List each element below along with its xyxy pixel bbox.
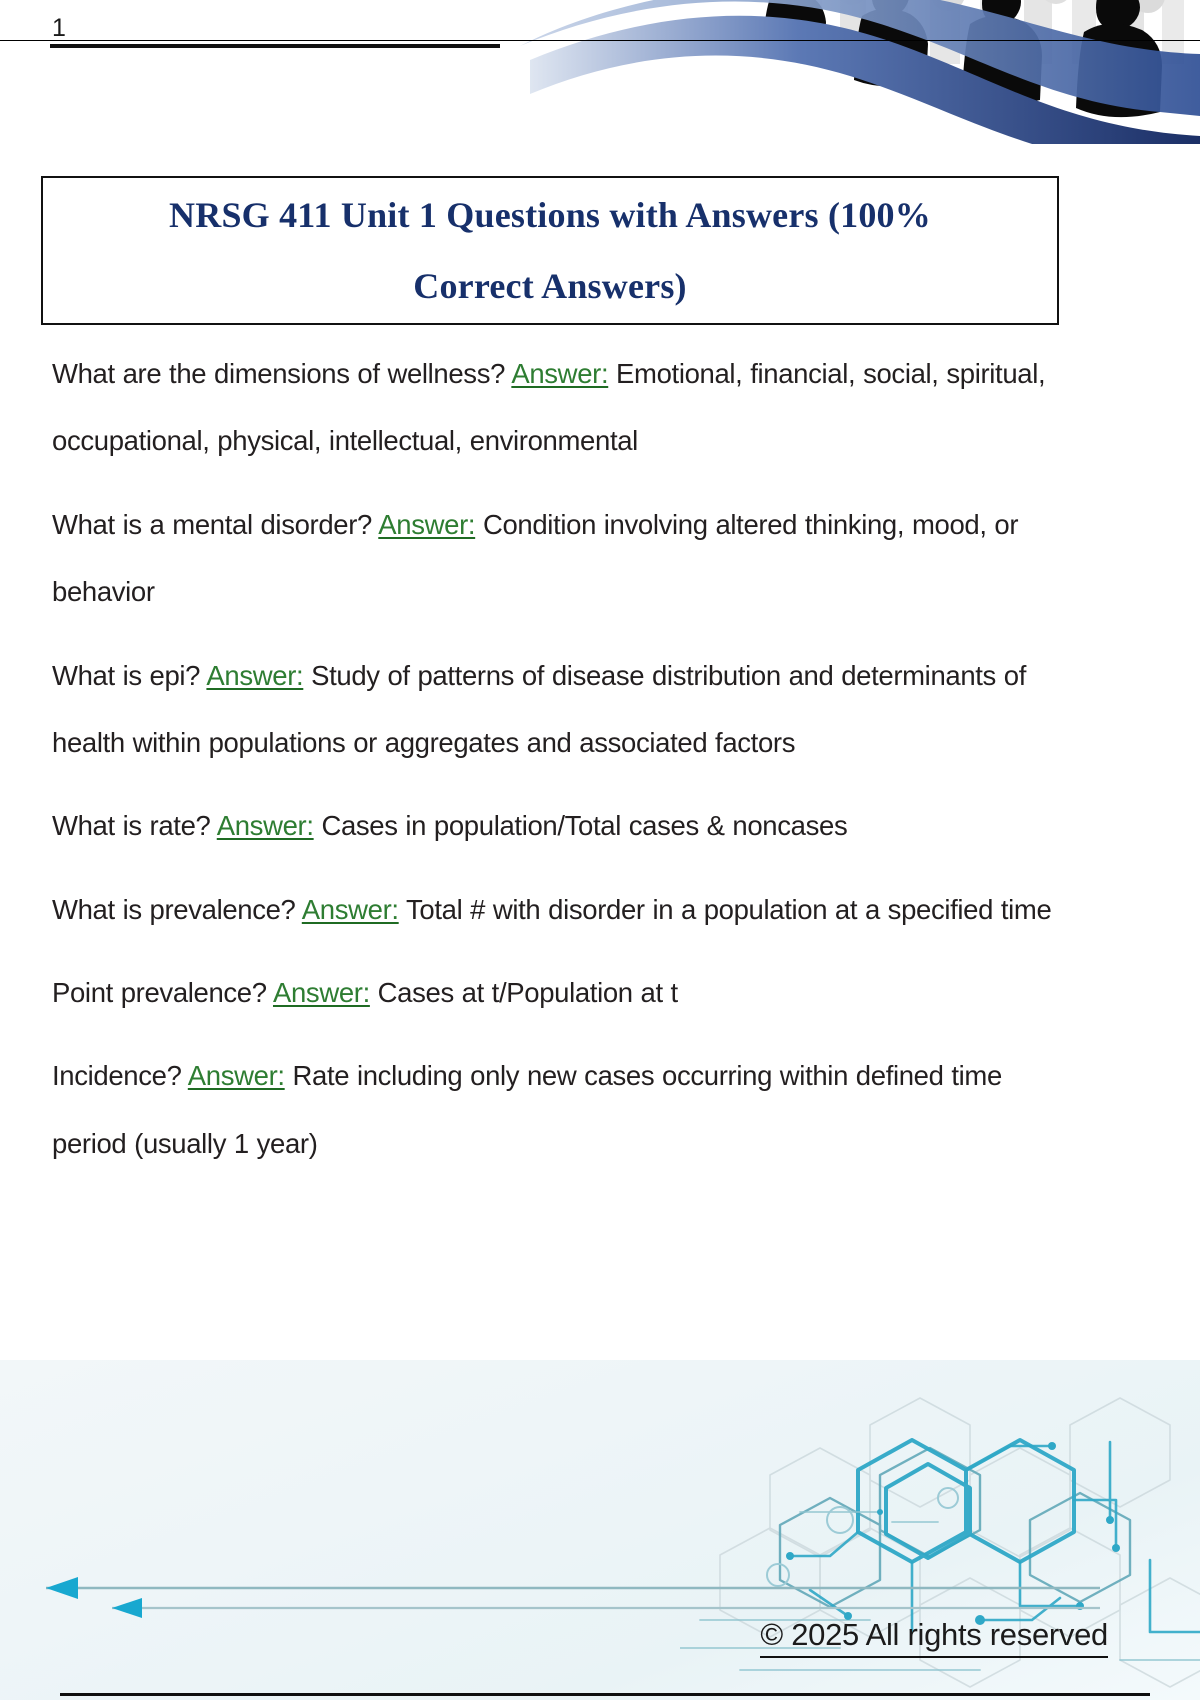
- qa-item: What is rate? Answer: Cases in populatio…: [52, 792, 1072, 859]
- question-text: What is prevalence?: [52, 894, 296, 925]
- document-page: 1 NRSG 411 Unit 1 Questions with Answers…: [0, 0, 1200, 1700]
- question-text: Point prevalence?: [52, 977, 267, 1008]
- qa-item: What is a mental disorder? Answer: Condi…: [52, 491, 1072, 626]
- qa-list: What are the dimensions of wellness? Ans…: [52, 340, 1072, 1193]
- answer-label: Answer:: [273, 977, 370, 1008]
- left-arrow-icon: [46, 1577, 78, 1599]
- qa-item: Point prevalence? Answer: Cases at t/Pop…: [52, 959, 1072, 1026]
- blue-wave-people-silhouette-banner: [500, 0, 1200, 144]
- left-arrow-icon: [112, 1598, 142, 1618]
- footer-rule: [60, 1693, 1150, 1696]
- page-title: NRSG 411 Unit 1 Questions with Answers (…: [114, 180, 986, 320]
- header-rule-thick: [50, 44, 500, 48]
- page-number: 1: [52, 16, 66, 41]
- answer-label: Answer:: [188, 1060, 285, 1091]
- page-footer: © 2025 All rights reserved: [0, 1360, 1200, 1700]
- answer-label: Answer:: [217, 810, 314, 841]
- qa-item: What is prevalence? Answer: Total # with…: [52, 876, 1072, 943]
- page-header: 1: [0, 0, 1200, 150]
- answer-label: Answer:: [206, 660, 303, 691]
- answer-text: Cases at t/Population at t: [378, 977, 678, 1008]
- title-box: NRSG 411 Unit 1 Questions with Answers (…: [41, 176, 1059, 325]
- qa-item: What are the dimensions of wellness? Ans…: [52, 340, 1072, 475]
- question-text: What are the dimensions of wellness?: [52, 358, 505, 389]
- answer-label: Answer:: [511, 358, 608, 389]
- answer-label: Answer:: [302, 894, 399, 925]
- question-text: What is rate?: [52, 810, 210, 841]
- answer-text: Cases in population/Total cases & noncas…: [321, 810, 847, 841]
- question-text: What is a mental disorder?: [52, 509, 372, 540]
- answer-label: Answer:: [378, 509, 475, 540]
- qa-item: Incidence? Answer: Rate including only n…: [52, 1042, 1072, 1177]
- question-text: What is epi?: [52, 660, 200, 691]
- answer-text: Total # with disorder in a population at…: [406, 894, 1051, 925]
- qa-item: What is epi? Answer: Study of patterns o…: [52, 642, 1072, 777]
- question-text: Incidence?: [52, 1060, 182, 1091]
- copyright-notice: © 2025 All rights reserved: [760, 1617, 1108, 1658]
- header-rule-thin: [0, 40, 1200, 41]
- header-wave-svg: [500, 0, 1200, 144]
